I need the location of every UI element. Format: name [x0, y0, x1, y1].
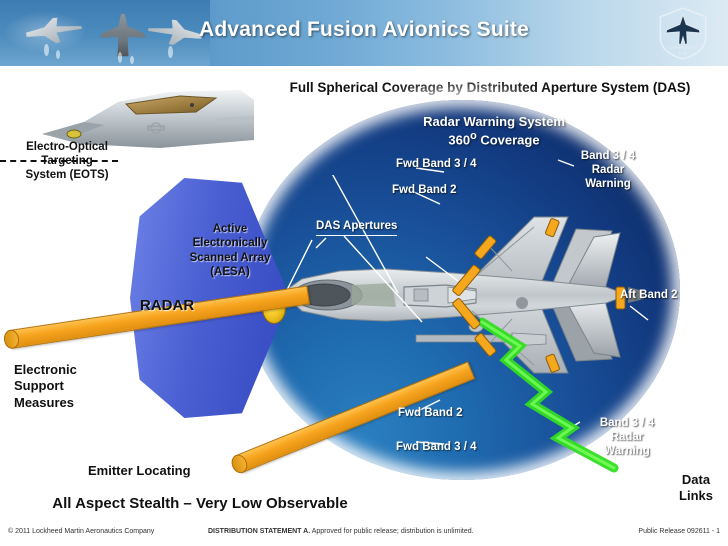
esm-line2: Support — [14, 378, 124, 394]
page-title: Advanced Fusion Avionics Suite — [0, 18, 728, 42]
rws-title-line2: 360o Coverage — [384, 130, 604, 148]
aesa-line4: (AESA) — [160, 265, 300, 279]
das-subtitle: Full Spherical Coverage by Distributed A… — [255, 80, 725, 95]
aesa-line2: Electronically — [160, 236, 300, 250]
callout-br-line1: Band 3 / 4 — [586, 417, 668, 431]
aesa-line1: Active — [160, 222, 300, 236]
callout-br-line2: Radar — [586, 431, 668, 445]
callout-band-34-radar-warning-bottom-right: Band 3 / 4 Radar Warning — [586, 417, 668, 458]
callout-fwd-band-34-bottom: Fwd Band 3 / 4 — [396, 441, 477, 455]
callout-fwd-band-2-bottom: Fwd Band 2 — [398, 407, 463, 421]
header-bar: Advanced Fusion Avionics Suite LIGHTNING… — [0, 0, 728, 66]
vapor-trail — [118, 52, 122, 63]
footer-release-number: Public Release 092611 - 1 — [638, 528, 720, 535]
rws-360: 360 — [448, 132, 470, 147]
footer-copyright: © 2011 Lockheed Martin Aeronautics Compa… — [8, 528, 154, 535]
footer: © 2011 Lockheed Martin Aeronautics Compa… — [0, 528, 728, 542]
callout-aesa: Active Electronically Scanned Array (AES… — [160, 222, 300, 280]
vapor-trail — [44, 44, 49, 56]
footer-distribution-rest: Approved for public release; distributio… — [310, 528, 473, 535]
callout-electronic-support-measures: Electronic Support Measures — [14, 362, 124, 411]
slide-canvas: Advanced Fusion Avionics Suite LIGHTNING… — [0, 0, 728, 546]
callout-fwd-band-34-top: Fwd Band 3 / 4 — [396, 158, 477, 172]
callout-br-line3: Warning — [586, 445, 668, 459]
footer-distribution-bold: DISTRIBUTION STATEMENT A. — [208, 528, 310, 535]
callout-tr-line2: Radar — [566, 164, 650, 178]
svg-text:F-35: F-35 — [679, 51, 688, 56]
vapor-trail — [168, 46, 173, 58]
callout-band-34-radar-warning-top-right: Band 3 / 4 Radar Warning — [566, 150, 650, 191]
rws-degree-symbol: o — [470, 130, 477, 142]
f35-lightning-ii-emblem-icon: LIGHTNING II F-35 — [656, 6, 710, 60]
vapor-trail — [56, 50, 60, 59]
data-links-line2: Links — [668, 488, 724, 504]
callout-fwd-band-2-top: Fwd Band 2 — [392, 184, 457, 198]
esm-line3: Measures — [14, 395, 124, 411]
callout-emitter-locating: Emitter Locating — [88, 463, 191, 479]
rws-title-line1: Radar Warning System — [384, 114, 604, 130]
rws-coverage: Coverage — [477, 132, 540, 147]
callout-tr-line1: Band 3 / 4 — [566, 150, 650, 164]
emitter-beam-cap — [229, 452, 250, 475]
eots-label-line2: Targeting — [2, 154, 132, 168]
esm-line1: Electronic — [14, 362, 124, 378]
data-links-line1: Data — [668, 472, 724, 488]
footer-distribution-statement: DISTRIBUTION STATEMENT A. Approved for p… — [208, 528, 474, 535]
vapor-trail — [130, 56, 134, 64]
radar-warning-system-title: Radar Warning System 360o Coverage — [384, 114, 604, 148]
esm-beam-cap — [3, 329, 21, 350]
callout-tr-line3: Warning — [566, 178, 650, 192]
callout-data-links: Data Links — [668, 472, 724, 503]
stealth-tagline: All Aspect Stealth – Very Low Observable — [0, 495, 400, 512]
aesa-line3: Scanned Array — [160, 251, 300, 265]
callout-aft-band-2: Aft Band 2 — [620, 289, 678, 303]
callout-das-apertures: DAS Apertures — [316, 220, 397, 236]
eots-label-line3: System (EOTS) — [2, 168, 132, 182]
eots-label-line1: Electro-Optical — [2, 140, 132, 154]
eots-label: Electro-Optical Targeting System (EOTS) — [2, 140, 132, 182]
svg-text:LIGHTNING II: LIGHTNING II — [669, 45, 696, 50]
callout-radar: RADAR — [140, 297, 194, 315]
